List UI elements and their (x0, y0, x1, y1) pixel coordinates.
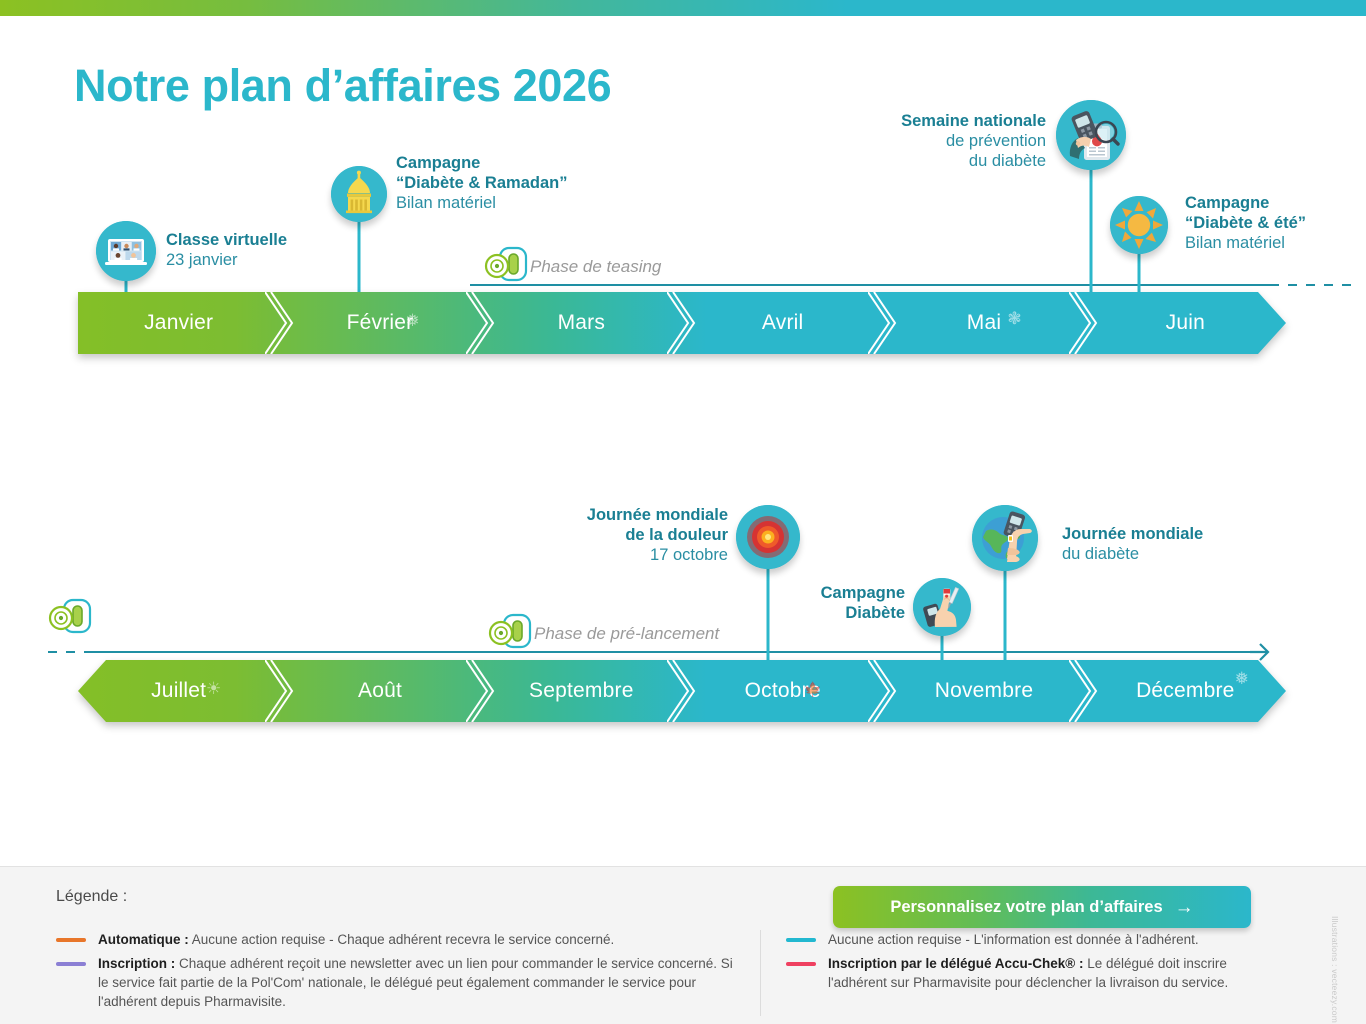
legend-title: Légende : (56, 888, 127, 906)
legend-desc: Chaque adhérent reçoit une newsletter av… (98, 956, 733, 1009)
annotation-semaine-nationale: Semaine nationale de prévention du diabè… (806, 111, 1046, 171)
annotation-line: de la douleur (500, 525, 728, 545)
month-list-2: Juillet ☀ Août Septembre Octobre 🍁 Novem… (78, 660, 1286, 722)
annotation-line: du diabète (1062, 544, 1203, 564)
top-gradient-bar (0, 0, 1366, 16)
mosque-icon (331, 166, 387, 222)
annotation-line: “Diabète & été” (1185, 213, 1306, 233)
annotation-line: du diabète (806, 151, 1046, 171)
month-item-avril[interactable]: Avril (682, 292, 883, 354)
month-label: Septembre (529, 679, 634, 703)
pain-target-icon (736, 505, 800, 569)
legend-term: Inscription : (98, 956, 175, 971)
illustration-credit: Illustrations : vecteezy.com (1330, 916, 1340, 1023)
page-title: Notre plan d’affaires 2026 (74, 60, 611, 112)
month-bar-semester-2: Juillet ☀ Août Septembre Octobre 🍁 Novem… (78, 660, 1286, 722)
annotation-line: Journée mondiale (1062, 524, 1203, 544)
month-item-septembre[interactable]: Septembre (481, 660, 682, 722)
month-label: Décembre (1136, 679, 1234, 703)
annotation-journee-diabete: Journée mondiale du diabète (1062, 524, 1203, 564)
glucometer-report-icon (1056, 100, 1126, 170)
month-item-juin[interactable]: Juin (1085, 292, 1286, 354)
month-bar-semester-1: Janvier Février ❅ Mars Avril Mai ❃ Juin (78, 292, 1286, 354)
month-label: Juillet (151, 679, 206, 703)
phase-line-2-dashed (48, 651, 90, 653)
legend-color-swatch (786, 938, 816, 942)
phase-line-1 (470, 284, 1270, 286)
finger-prick-icon (913, 578, 971, 636)
annotation-line: “Diabète & Ramadan” (396, 173, 567, 193)
legend-term: Inscription par le délégué Accu-Chek® : (828, 956, 1084, 971)
legend-term: Automatique : (98, 932, 189, 947)
annotation-campagne-ramadan: Campagne “Diabète & Ramadan” Bilan matér… (396, 153, 567, 213)
pill-target-icon (48, 598, 94, 639)
phase-line-2 (88, 651, 1260, 653)
phase-line-1-dashed (1270, 284, 1352, 286)
month-item-fevrier[interactable]: Février ❅ (279, 292, 480, 354)
month-item-decembre[interactable]: Décembre ❅ (1085, 660, 1286, 722)
legend-item-aucune-action: Aucune action requise - L'information es… (786, 930, 1286, 949)
month-label: Avril (762, 311, 803, 335)
sun-icon (1110, 196, 1168, 254)
annotation-line: Diabète (740, 603, 905, 623)
annotation-line: Semaine nationale (806, 111, 1046, 131)
month-item-mai[interactable]: Mai ❃ (883, 292, 1084, 354)
globe-glucometer-icon (972, 505, 1038, 571)
annotation-campagne-ete: Campagne “Diabète & été” Bilan matériel (1185, 193, 1306, 253)
month-label: Juin (1166, 311, 1205, 335)
annotation-campagne-diabete: Campagne Diabète (740, 583, 905, 623)
pill-target-icon (484, 246, 530, 287)
legend-text: Aucune action requise - L'information es… (828, 930, 1199, 949)
legend-text: Automatique : Aucune action requise - Ch… (98, 930, 614, 949)
legend-desc: Aucune action requise - L'information es… (828, 932, 1199, 947)
footer-divider (0, 866, 1366, 867)
annotation-line: Bilan matériel (1185, 233, 1306, 253)
month-label: Octobre (745, 679, 821, 703)
annotation-line: Classe virtuelle (166, 230, 287, 250)
legend-text: Inscription : Chaque adhérent reçoit une… (98, 954, 746, 1011)
legend-color-swatch (56, 962, 86, 966)
legend-item-inscription-delegue: Inscription par le délégué Accu-Chek® : … (786, 954, 1286, 992)
month-item-aout[interactable]: Août (279, 660, 480, 722)
annotation-classe-virtuelle: Classe virtuelle 23 janvier (166, 230, 287, 270)
legend-color-swatch (56, 938, 86, 942)
month-label: Novembre (935, 679, 1033, 703)
annotation-line: 23 janvier (166, 250, 287, 270)
flower-icon: ❃ (1007, 310, 1021, 327)
month-label: Mai (967, 311, 1001, 335)
month-label: Février (347, 311, 414, 335)
phase-label-1: Phase de teasing (530, 257, 661, 277)
virtual-classroom-icon (96, 221, 156, 281)
personalize-plan-button[interactable]: Personnalisez votre plan d’affaires → (833, 886, 1251, 928)
annotation-line: Bilan matériel (396, 193, 567, 213)
arrow-right-icon: → (1175, 898, 1194, 917)
month-list-1: Janvier Février ❅ Mars Avril Mai ❃ Juin (78, 292, 1286, 354)
month-label: Janvier (144, 311, 213, 335)
month-label: Mars (558, 311, 605, 335)
snowflake-icon: ❅ (1235, 670, 1249, 687)
infographic-page: Notre plan d’affaires 2026 Phase de teas… (0, 0, 1366, 1024)
legend-item-automatique: Automatique : Aucune action requise - Ch… (56, 930, 746, 949)
sun-small-icon: ☀ (206, 680, 221, 697)
month-item-janvier[interactable]: Janvier (78, 292, 279, 354)
legend-color-swatch (786, 962, 816, 966)
annotation-line: de prévention (806, 131, 1046, 151)
legend-desc: Aucune action requise - Chaque adhérent … (189, 932, 615, 947)
legend-item-inscription: Inscription : Chaque adhérent reçoit une… (56, 954, 746, 1011)
month-item-octobre[interactable]: Octobre 🍁 (682, 660, 883, 722)
annotation-line: 17 octobre (500, 545, 728, 565)
month-item-juillet[interactable]: Juillet ☀ (78, 660, 279, 722)
annotation-line: Campagne (396, 153, 567, 173)
pill-target-icon (488, 613, 534, 654)
month-label: Août (358, 679, 402, 703)
month-item-novembre[interactable]: Novembre (883, 660, 1084, 722)
footer-vertical-separator (760, 930, 761, 1016)
annotation-line: Campagne (740, 583, 905, 603)
legend-text: Inscription par le délégué Accu-Chek® : … (828, 954, 1286, 992)
cta-label: Personnalisez votre plan d’affaires (890, 898, 1162, 917)
phase-label-2: Phase de pré-lancement (534, 624, 719, 644)
month-item-mars[interactable]: Mars (481, 292, 682, 354)
annotation-line: Campagne (1185, 193, 1306, 213)
annotation-journee-douleur: Journée mondiale de la douleur 17 octobr… (500, 505, 728, 565)
annotation-line: Journée mondiale (500, 505, 728, 525)
